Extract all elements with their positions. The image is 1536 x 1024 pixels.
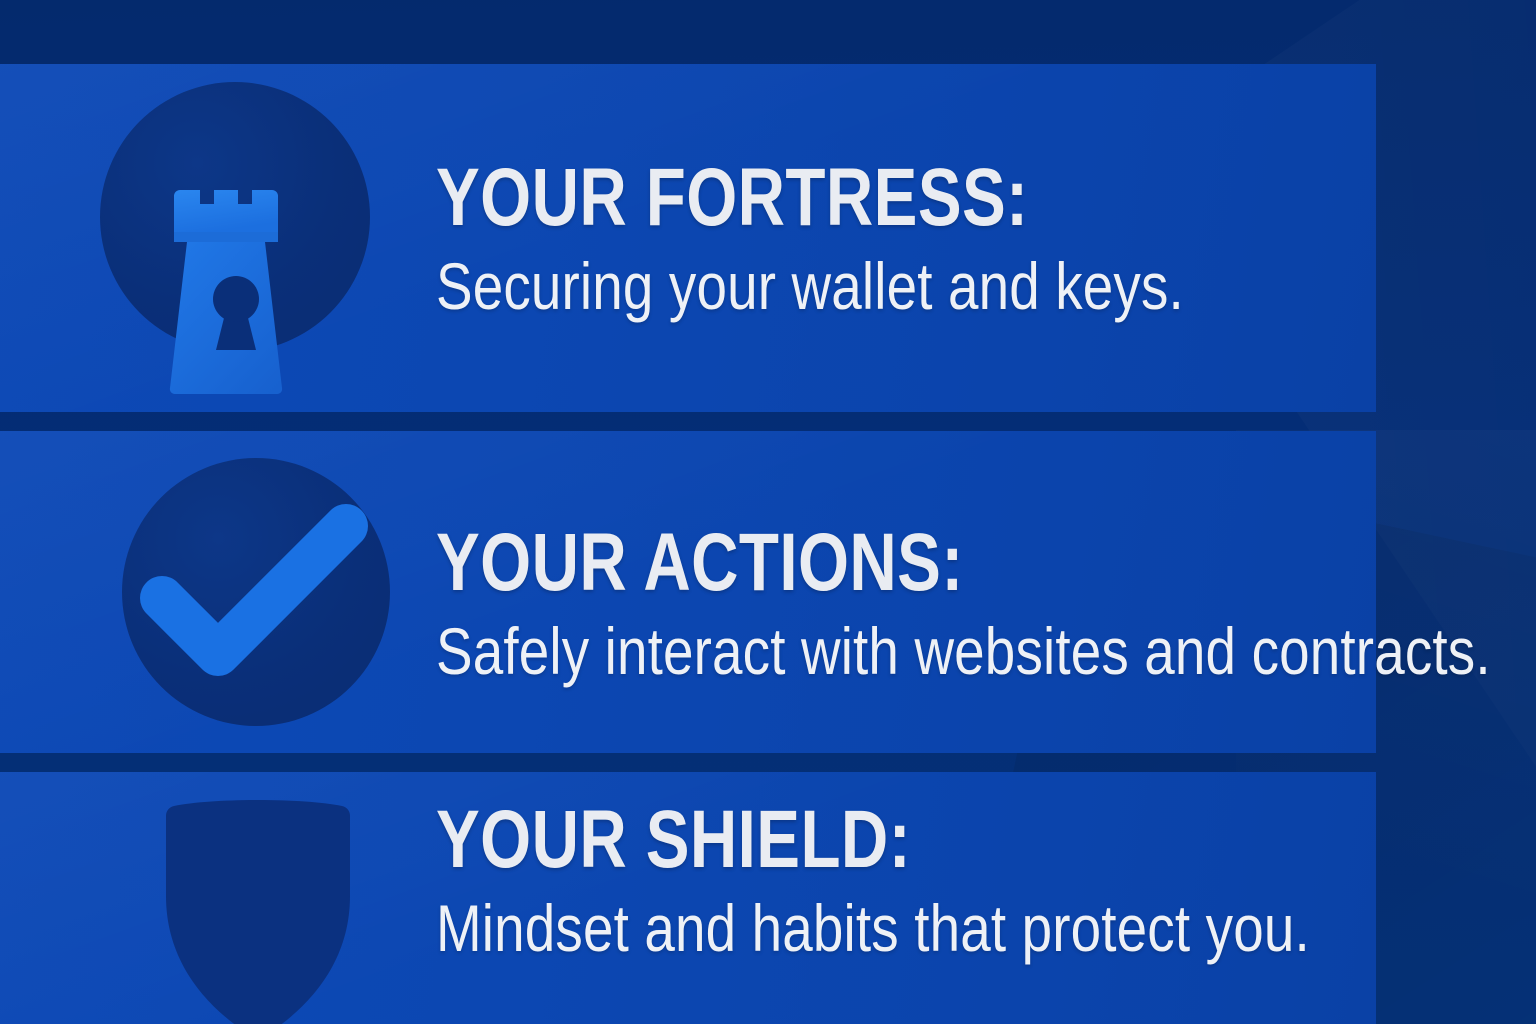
fortress-icon (160, 184, 312, 400)
slide-canvas: YOUR FORTRESS: Securing your wallet and … (0, 0, 1536, 1024)
row-heading: YOUR FORTRESS: (436, 160, 1157, 235)
shield-icon (152, 794, 364, 1024)
list-item-shield: YOUR SHIELD: Mindset and habits that pro… (0, 772, 1536, 1024)
text-slot-actions: YOUR ACTIONS: Safely interact with websi… (436, 431, 1536, 753)
list-item-fortress: YOUR FORTRESS: Securing your wallet and … (0, 64, 1536, 412)
text-slot-fortress: YOUR FORTRESS: Securing your wallet and … (436, 64, 1536, 412)
row-subtitle: Mindset and habits that protect you. (436, 893, 1310, 964)
row-heading: YOUR SHIELD: (436, 802, 1278, 877)
row-subtitle: Securing your wallet and keys. (436, 251, 1184, 322)
row-heading: YOUR ACTIONS: (436, 525, 1453, 600)
icon-slot-actions (0, 431, 436, 753)
text-slot-shield: YOUR SHIELD: Mindset and habits that pro… (436, 772, 1536, 1024)
icon-slot-shield (0, 772, 436, 1024)
list-item-actions: YOUR ACTIONS: Safely interact with websi… (0, 431, 1536, 753)
icon-slot-fortress (0, 64, 436, 412)
checkmark-icon (140, 504, 372, 684)
row-subtitle: Safely interact with websites and contra… (436, 616, 1491, 687)
